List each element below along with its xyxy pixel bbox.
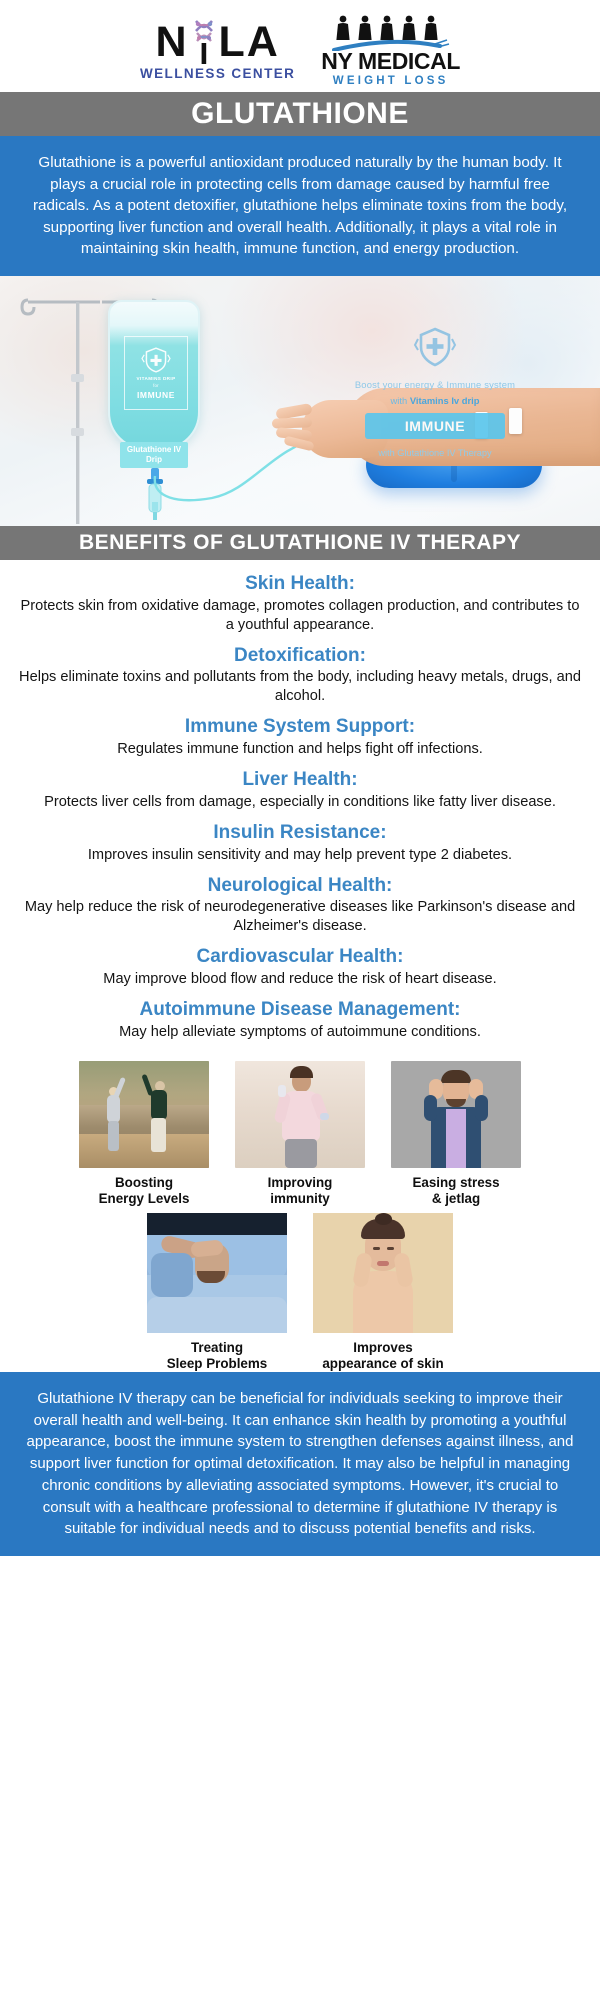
bag-text-line2: for	[153, 383, 159, 388]
photo-caption: Improves appearance of skin	[313, 1340, 453, 1372]
ny-medical-wordmark: NY MEDICAL	[321, 50, 460, 73]
photo-grid-row-1: Boosting Energy Levels Improving immunit…	[0, 1057, 600, 1207]
promo-line-2: with Vitamins Iv drip	[330, 395, 540, 406]
benefit-item: Neurological Health: May help reduce the…	[16, 874, 584, 937]
caption-line-2: & jetlag	[391, 1191, 521, 1207]
photo-cell-sleep: Treating Sleep Problems	[147, 1213, 287, 1372]
caption-line-2: immunity	[235, 1191, 365, 1207]
dna-helix-icon	[189, 19, 219, 65]
promo-immune-pill: IMMUNE	[365, 413, 505, 439]
caption-line-2: Energy Levels	[79, 1191, 209, 1207]
footer-paragraph: Glutathione IV therapy can be beneficial…	[0, 1372, 600, 1556]
benefit-description: Protects skin from oxidative damage, pro…	[16, 597, 584, 635]
caption-line-2: appearance of skin	[313, 1356, 453, 1372]
nyla-tagline: WELLNESS CENTER	[140, 66, 295, 81]
promo-line-3: with Glutathione IV Therapy	[330, 448, 540, 458]
photo-improving-immunity	[235, 1061, 365, 1168]
photo-grid-row-2: Treating Sleep Problems Improves appeara…	[0, 1207, 600, 1372]
caption-line-1: Improving	[235, 1175, 365, 1191]
promo-shield-icon	[413, 326, 457, 368]
benefit-description: May help reduce the risk of neurodegener…	[16, 898, 584, 936]
benefit-description: Helps eliminate toxins and pollutants fr…	[16, 668, 584, 706]
caption-line-1: Treating	[147, 1340, 287, 1356]
photo-boosting-energy	[79, 1061, 209, 1168]
benefit-item: Skin Health: Protects skin from oxidativ…	[16, 572, 584, 635]
logo-letter-a: A	[247, 22, 280, 63]
photo-cell-stress: Easing stress & jetlag	[391, 1061, 521, 1207]
benefit-title: Detoxification:	[16, 644, 584, 668]
intro-paragraph: Glutathione is a powerful antioxidant pr…	[0, 136, 600, 276]
logo-bar: N L A WELLNESS CENTER	[0, 0, 600, 92]
caption-line-1: Easing stress	[391, 1175, 521, 1191]
promo-line-2-prefix: with	[391, 395, 410, 406]
logo-letter-n: N	[155, 22, 188, 63]
benefit-item: Insulin Resistance: Improves insulin sen…	[16, 821, 584, 865]
photo-caption: Boosting Energy Levels	[79, 1175, 209, 1207]
benefit-item: Detoxification: Helps eliminate toxins a…	[16, 644, 584, 707]
bag-text-line1: VITAMINS DRIP	[136, 376, 175, 381]
benefit-description: Improves insulin sensitivity and may hel…	[16, 846, 584, 865]
iv-therapy-illustration: VITAMINS DRIP for IMMUNE Glutathione IV …	[0, 276, 600, 526]
photo-caption: Easing stress & jetlag	[391, 1175, 521, 1207]
benefit-title: Autoimmune Disease Management:	[16, 998, 584, 1022]
footer-text: Glutathione IV therapy can be beneficial…	[27, 1390, 574, 1538]
benefit-item: Immune System Support: Regulates immune …	[16, 715, 584, 759]
immune-shield-icon	[141, 346, 171, 374]
benefit-item: Autoimmune Disease Management: May help …	[16, 998, 584, 1042]
photo-cell-energy: Boosting Energy Levels	[79, 1061, 209, 1207]
photo-caption: Treating Sleep Problems	[147, 1340, 287, 1372]
benefit-title: Immune System Support:	[16, 715, 584, 739]
benefit-description: Protects liver cells from damage, especi…	[16, 793, 584, 812]
photo-easing-stress	[391, 1061, 521, 1168]
intro-text: Glutathione is a powerful antioxidant pr…	[24, 152, 576, 260]
photo-improves-skin	[313, 1213, 453, 1333]
photo-caption: Improving immunity	[235, 1175, 365, 1207]
benefit-item: Liver Health: Protects liver cells from …	[16, 768, 584, 812]
benefits-section-title: BENEFITS OF GLUTATHIONE IV THERAPY	[0, 526, 600, 560]
benefit-item: Cardiovascular Health: May improve blood…	[16, 945, 584, 989]
benefit-description: May help alleviate symptoms of autoimmun…	[16, 1023, 584, 1042]
iv-bag-label-box: VITAMINS DRIP for IMMUNE	[124, 336, 188, 410]
bag-text-line3: IMMUNE	[137, 390, 175, 400]
benefit-title: Liver Health:	[16, 768, 584, 792]
benefits-list: Skin Health: Protects skin from oxidativ…	[0, 560, 600, 1057]
benefit-description: May improve blood flow and reduce the ri…	[16, 970, 584, 989]
drip-chamber-icon	[144, 468, 166, 522]
logo-letter-l: L	[219, 22, 247, 63]
weight-loss-tagline: WEIGHT LOSS	[333, 75, 449, 87]
finger	[272, 417, 312, 428]
nyla-wellness-logo: N L A WELLNESS CENTER	[140, 19, 295, 81]
caption-line-1: Boosting	[79, 1175, 209, 1191]
caption-line-1: Improves	[313, 1340, 453, 1356]
ny-medical-logo: NY MEDICAL WEIGHT LOSS	[321, 13, 460, 87]
iv-fluid-bag: VITAMINS DRIP for IMMUNE	[108, 300, 200, 450]
benefit-title: Cardiovascular Health:	[16, 945, 584, 969]
benefit-description: Regulates immune function and helps figh…	[16, 740, 584, 759]
promo-line-1: Boost your energy & Immune system	[330, 379, 540, 390]
promo-line-2-bold: Vitamins Iv drip	[410, 395, 480, 406]
benefit-title: Neurological Health:	[16, 874, 584, 898]
benefit-title: Skin Health:	[16, 572, 584, 596]
page-title: GLUTATHIONE	[0, 92, 600, 136]
caption-line-2: Sleep Problems	[147, 1356, 287, 1372]
benefit-title: Insulin Resistance:	[16, 821, 584, 845]
promo-callout: Boost your energy & Immune system with V…	[330, 326, 540, 458]
photo-cell-skin: Improves appearance of skin	[313, 1213, 453, 1372]
photo-cell-immunity: Improving immunity	[235, 1061, 365, 1207]
nyla-wordmark: N L A	[155, 19, 279, 65]
iv-drip-tag: Glutathione IV Drip	[120, 442, 188, 468]
photo-treating-sleep-problems	[147, 1213, 287, 1333]
people-silhouette-icon	[332, 15, 450, 41]
